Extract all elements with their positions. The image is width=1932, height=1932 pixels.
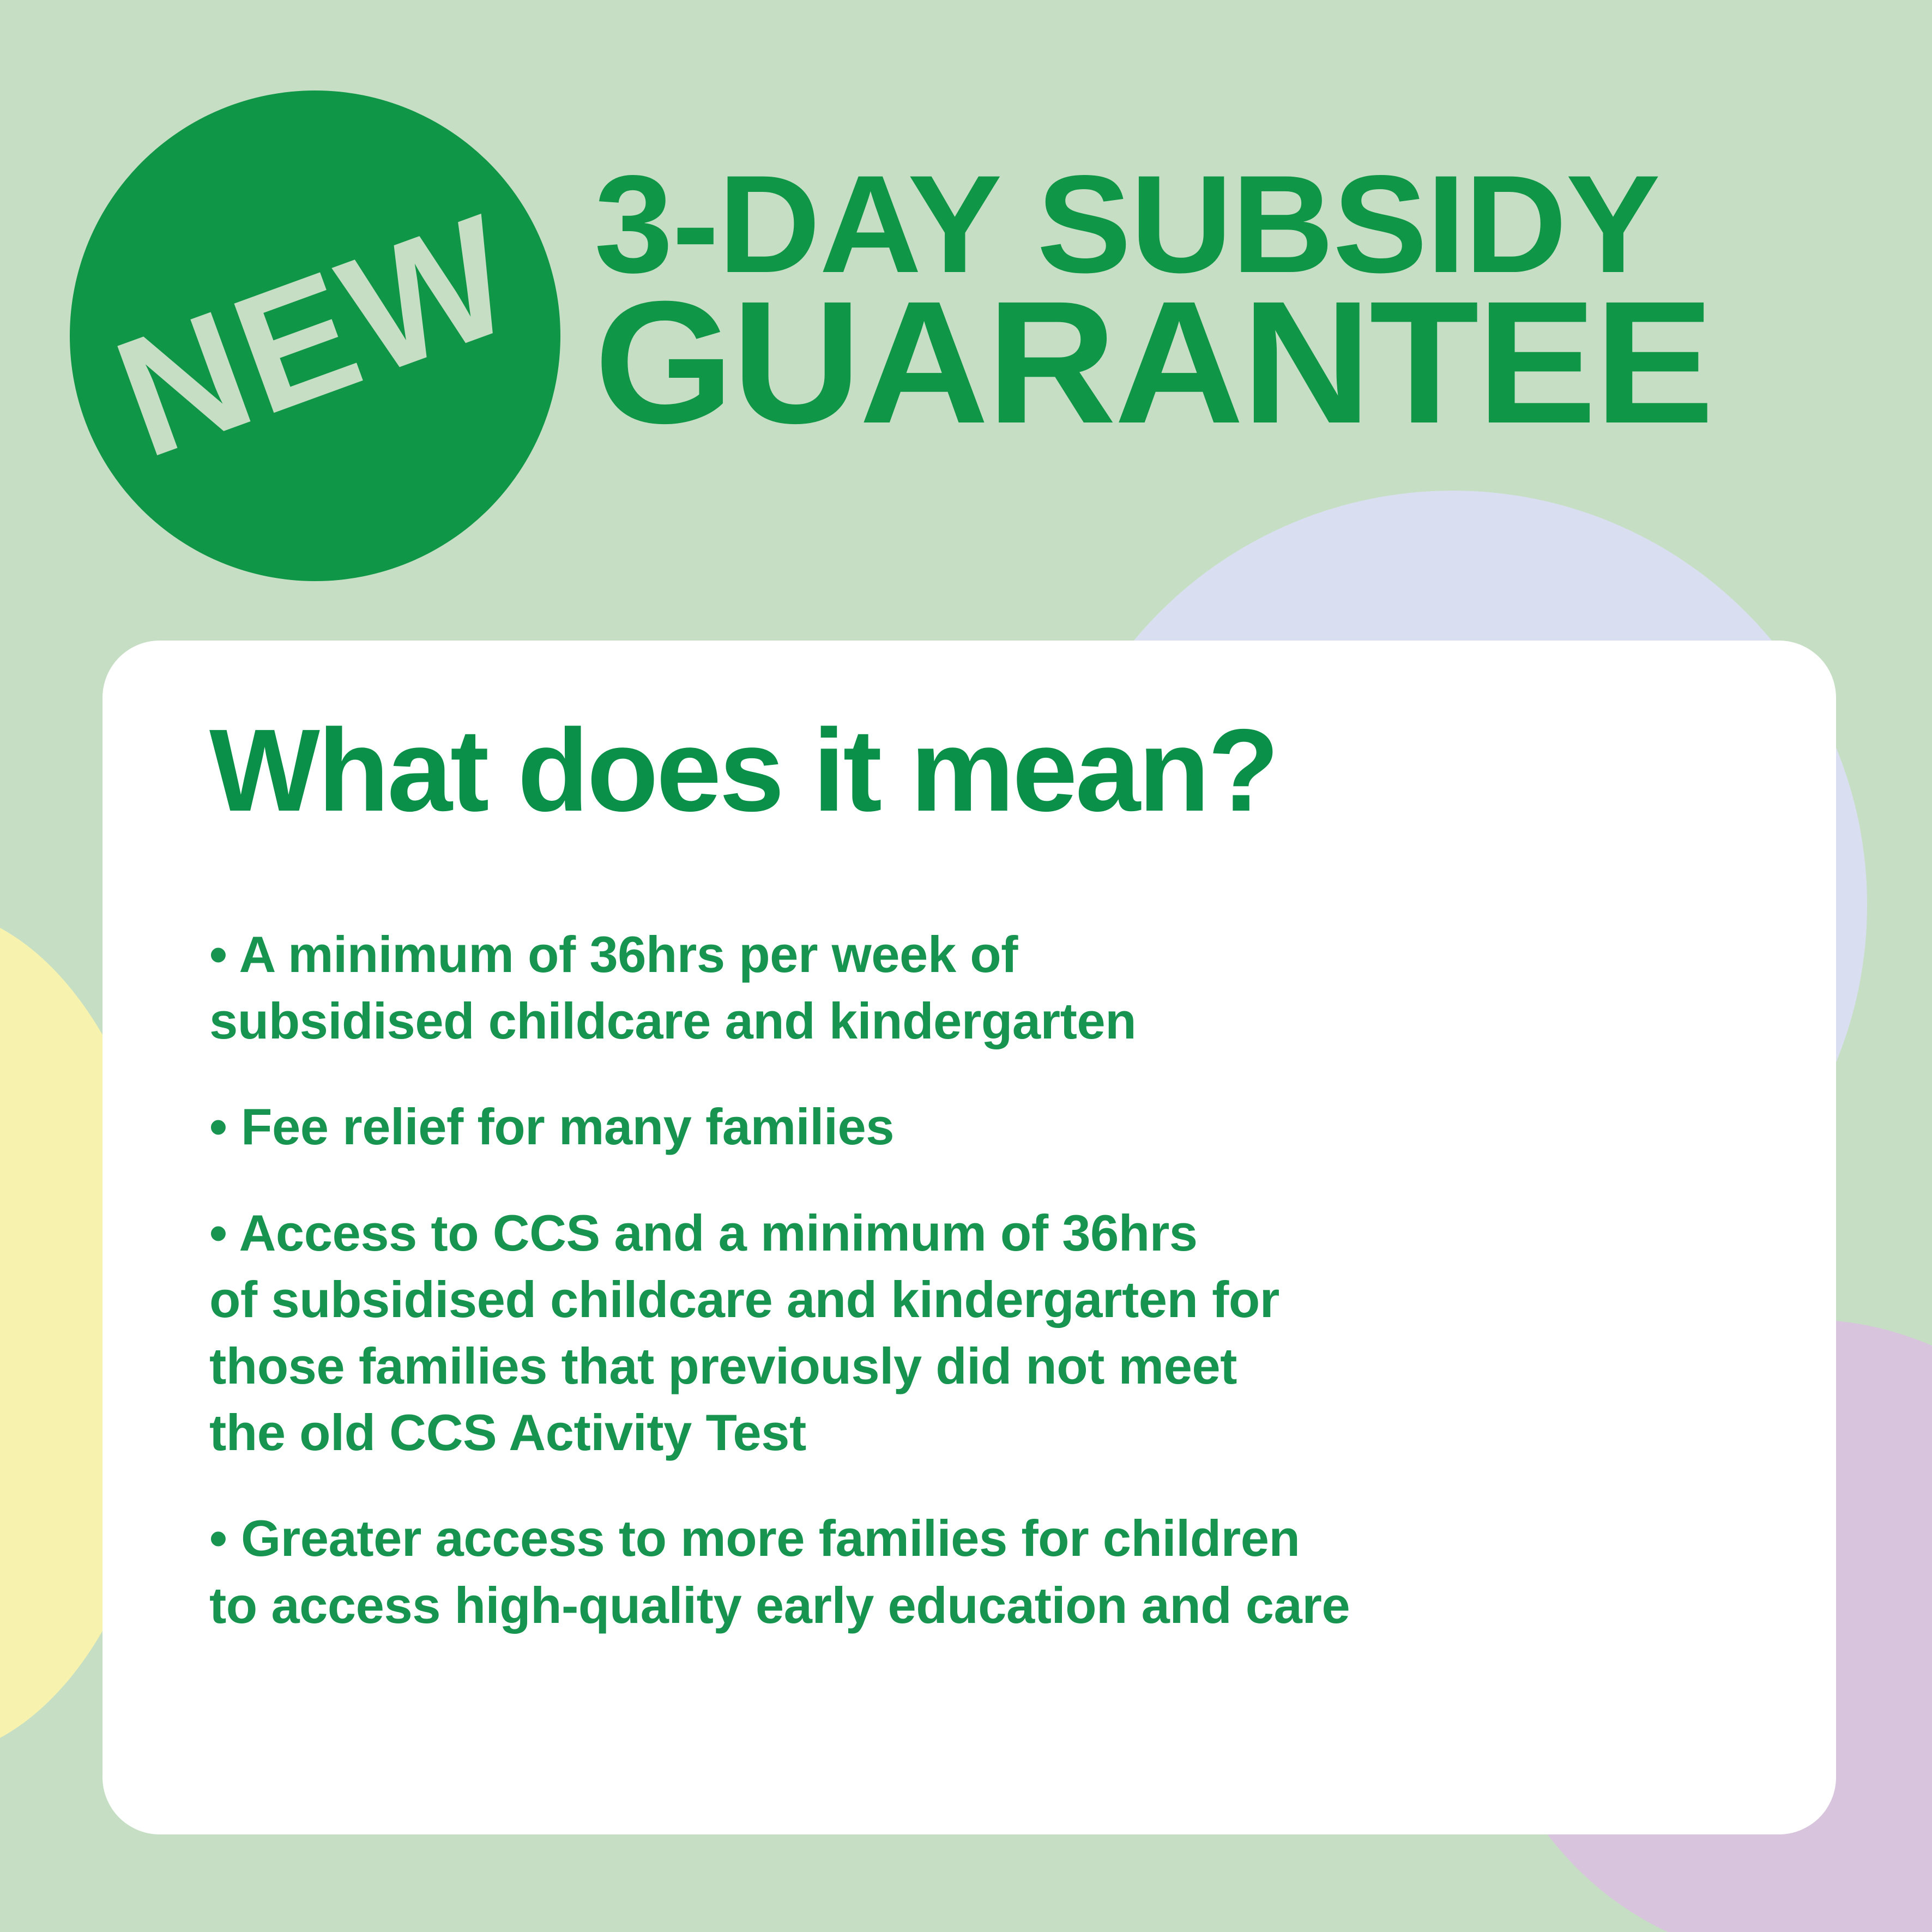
page-title: 3-DAY SUBSIDY GUARANTEE [594,164,1903,439]
poster-canvas: NEW 3-DAY SUBSIDY GUARANTEE What does it… [0,0,1932,1932]
list-item: • Access to CCS and a minimum of 36hrs o… [209,1200,1779,1466]
list-item: • Greater access to more families for ch… [209,1505,1779,1638]
new-badge: NEW [70,90,560,581]
list-item: • A minimum of 36hrs per week of subsidi… [209,921,1779,1054]
new-badge-label: NEW [98,188,533,484]
list-item: • Fee relief for many families [209,1094,1779,1160]
content-card: What does it mean? • A minimum of 36hrs … [102,641,1836,1834]
card-heading: What does it mean? [209,711,1277,829]
page-title-line-2: GUARANTEE [594,286,1932,439]
benefits-list: • A minimum of 36hrs per week of subsidi… [209,921,1779,1639]
